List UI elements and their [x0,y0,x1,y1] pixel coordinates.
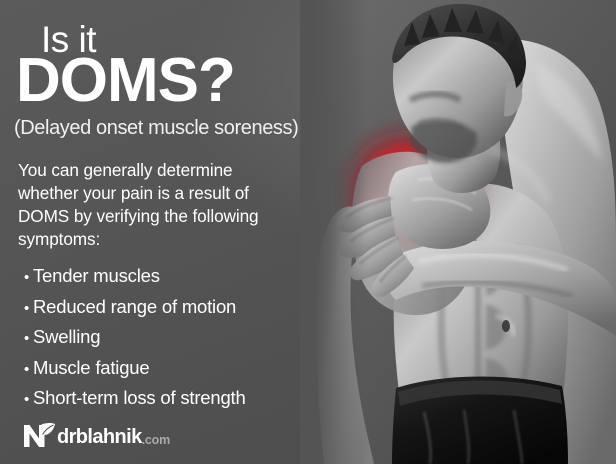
logo-wordmark: drblahnik [57,427,142,447]
bullet-icon: • [24,295,33,324]
bullet-icon: • [24,356,33,385]
list-item: • Muscle fatigue [24,354,246,385]
intro-line: You can generally determine [18,159,318,182]
list-item-label: Tender muscles [33,262,160,291]
page-title: DOMS? [16,50,235,112]
athlete-photo [300,0,616,464]
list-item: • Short-term loss of strength [24,384,246,415]
symptom-list: • Tender muscles • Reduced range of moti… [24,262,246,415]
intro-paragraph: You can generally determine whether your… [18,159,318,251]
bullet-icon: • [24,325,33,354]
bullet-icon: • [24,264,33,293]
list-item-label: Muscle fatigue [33,354,149,383]
bullet-icon: • [24,386,33,415]
subtitle-text: (Delayed onset muscle soreness) [14,118,298,138]
site-logo[interactable]: drblahnik .com [22,420,170,450]
logo-tld: .com [142,434,170,447]
copy-block: Is it DOMS? (Delayed onset muscle sorene… [0,0,340,464]
list-item-label: Swelling [33,323,100,352]
n-leaf-monogram-icon [22,421,56,449]
intro-line: symptoms: [18,228,318,251]
list-item-label: Short-term loss of strength [33,384,246,413]
list-item-label: Reduced range of motion [33,293,236,322]
list-item: • Tender muscles [24,262,246,293]
intro-line: DOMS by verifying the following [18,205,318,228]
doms-infographic: Is it DOMS? (Delayed onset muscle sorene… [0,0,616,464]
list-item: • Swelling [24,323,246,354]
list-item: • Reduced range of motion [24,293,246,324]
intro-line: whether your pain is a result of [18,182,318,205]
